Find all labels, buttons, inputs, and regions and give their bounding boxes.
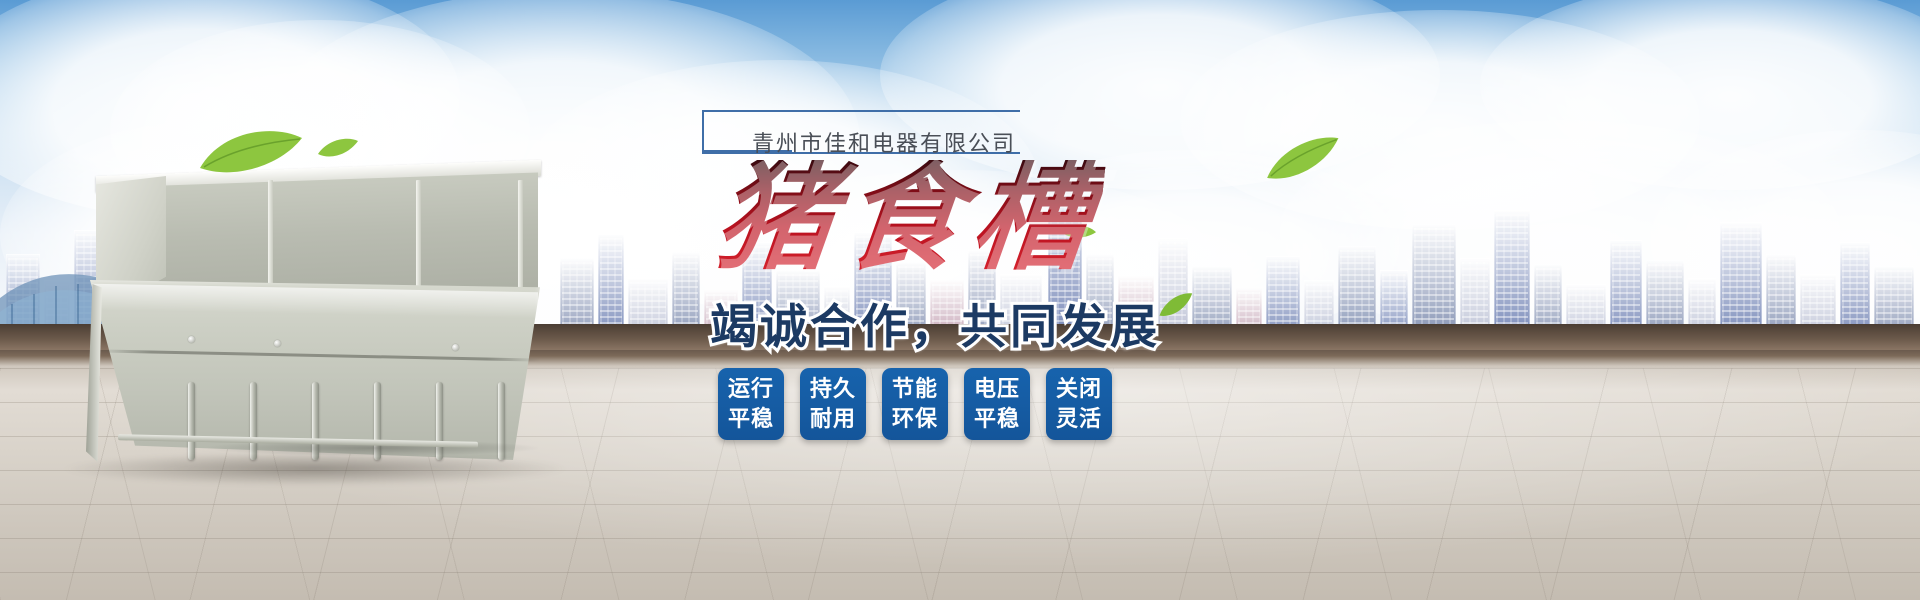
subtitle-slogan: 竭诚合作，共同发展 (710, 288, 1160, 357)
main-title: 猪食槽 (710, 160, 1106, 278)
badge-line-2: 环保 (892, 404, 938, 434)
feature-badge[interactable]: 电压 平稳 (964, 368, 1030, 440)
badge-line-2: 平稳 (974, 404, 1020, 434)
badge-line-1: 关闭 (1056, 374, 1102, 404)
feature-badge[interactable]: 关闭 灵活 (1046, 368, 1112, 440)
feature-badge-list: 运行 平稳 持久 耐用 节能 环保 电压 平稳 关闭 灵活 (718, 368, 1112, 440)
badge-line-1: 电压 (974, 374, 1020, 404)
badge-line-2: 灵活 (1056, 404, 1102, 434)
feature-badge[interactable]: 运行 平稳 (718, 368, 784, 440)
badge-line-2: 耐用 (810, 404, 856, 434)
badge-line-1: 持久 (810, 374, 856, 404)
banner-text-block: 青州市佳和电器有限公司 猪食槽 竭诚合作，共同发展 运行 平稳 持久 耐用 节能… (0, 0, 1920, 600)
feature-badge[interactable]: 持久 耐用 (800, 368, 866, 440)
badge-line-2: 平稳 (728, 404, 774, 434)
feature-badge[interactable]: 节能 环保 (882, 368, 948, 440)
promo-banner: 青州市佳和电器有限公司 猪食槽 竭诚合作，共同发展 运行 平稳 持久 耐用 节能… (0, 0, 1920, 600)
badge-line-1: 节能 (892, 374, 938, 404)
badge-line-1: 运行 (728, 374, 774, 404)
